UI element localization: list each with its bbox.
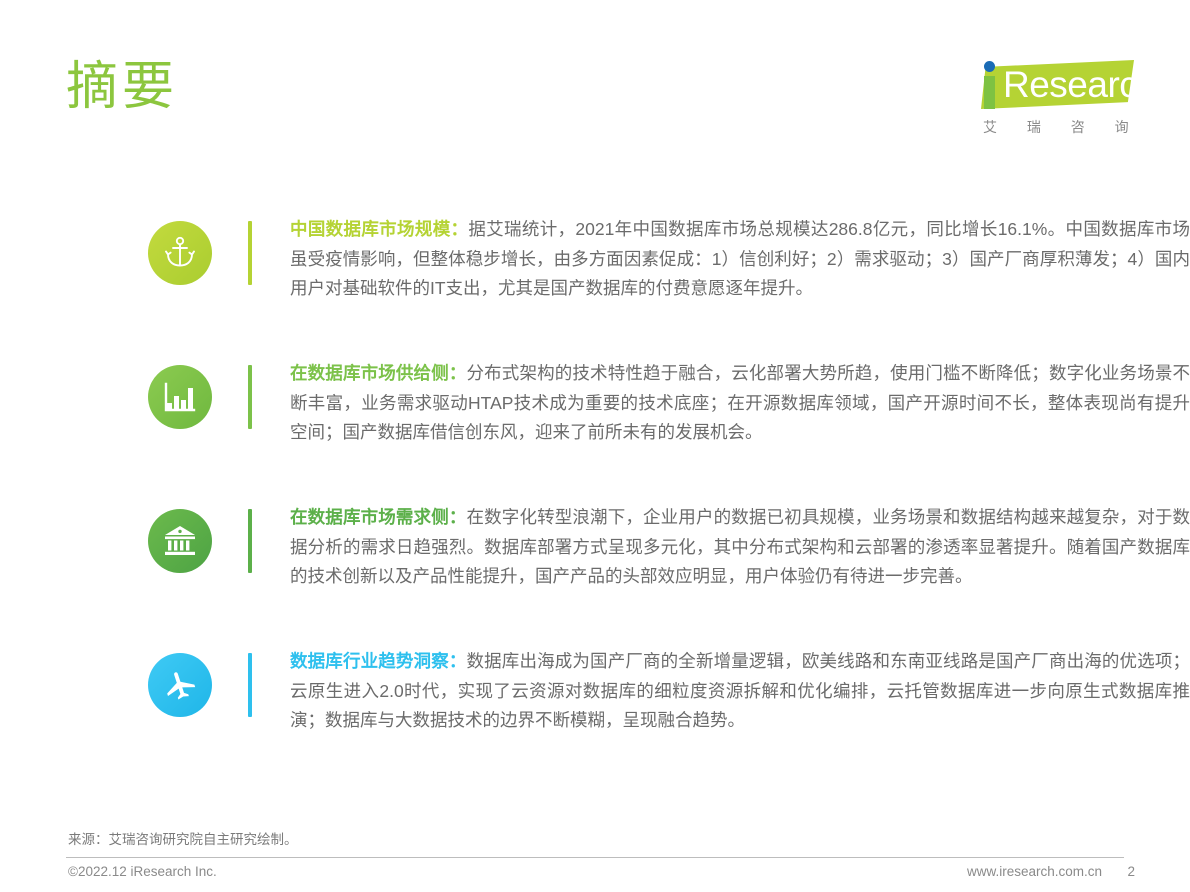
bullet-text: 中国数据库市场规模：据艾瑞统计，2021年中国数据库市场总规模达286.8亿元，… [290,215,1190,304]
list-item: 中国数据库市场规模：据艾瑞统计，2021年中国数据库市场总规模达286.8亿元，… [0,215,1190,315]
anchor-icon [148,221,212,285]
bullet-lead: 在数据库市场供给侧： [290,363,467,383]
logo-subtitle: 艾 瑞 咨 询 [983,117,1142,137]
copyright-text: ©2022.12 iResearch Inc. [68,864,217,879]
accent-divider [248,509,252,573]
logo-wordmark: Research [1003,63,1157,107]
source-note: 来源：艾瑞咨询研究院自主研究绘制。 [68,828,298,848]
bar-chart-icon [148,365,212,429]
accent-divider [248,221,252,285]
list-item: 数据库行业趋势洞察：数据库出海成为国产厂商的全新增量逻辑，欧美线路和东南亚线路是… [0,647,1190,747]
logo-i-stem-icon [984,76,995,109]
bullet-text: 数据库行业趋势洞察：数据库出海成为国产厂商的全新增量逻辑，欧美线路和东南亚线路是… [290,647,1190,736]
bank-icon [148,509,212,573]
accent-divider [248,653,252,717]
slide-page: 摘要 Research 艾 瑞 咨 询 [0,0,1190,892]
logo-mark: Research [955,57,1135,113]
accent-divider [248,365,252,429]
logo-i-dot-icon [984,61,995,72]
airplane-icon [148,653,212,717]
bullet-lead: 中国数据库市场规模： [290,219,468,239]
bullet-lead: 在数据库市场需求侧： [290,507,467,527]
footer-divider [66,857,1124,858]
bullet-lead: 数据库行业趋势洞察： [290,651,467,671]
iresearch-logo: Research 艾 瑞 咨 询 [955,57,1135,142]
list-item: 在数据库市场供给侧：分布式架构的技术特性趋于融合，云化部署大势所趋，使用门槛不断… [0,359,1190,459]
website-url: www.iresearch.com.cn [967,864,1102,879]
bullet-text: 在数据库市场供给侧：分布式架构的技术特性趋于融合，云化部署大势所趋，使用门槛不断… [290,359,1190,448]
bullet-text: 在数据库市场需求侧：在数字化转型浪潮下，企业用户的数据已初具规模，业务场景和数据… [290,503,1190,592]
page-title: 摘要 [66,52,178,122]
list-item: 在数据库市场需求侧：在数字化转型浪潮下，企业用户的数据已初具规模，业务场景和数据… [0,503,1190,603]
page-number: 2 [1127,864,1135,879]
summary-bullet-list: 中国数据库市场规模：据艾瑞统计，2021年中国数据库市场总规模达286.8亿元，… [0,215,1190,791]
